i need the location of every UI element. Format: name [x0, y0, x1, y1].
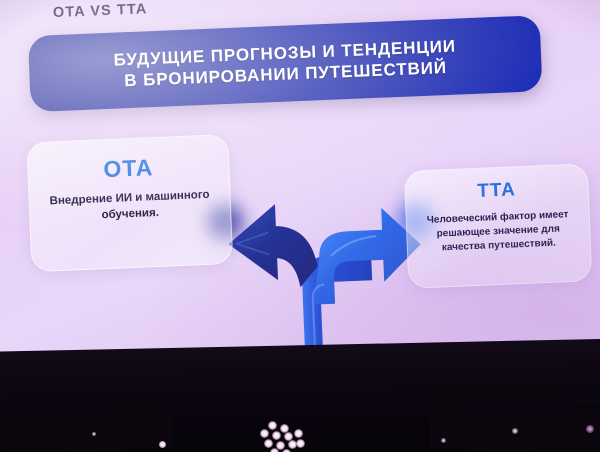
- par-light: [272, 431, 281, 440]
- slide-kicker: OTA VS TTA: [53, 1, 148, 21]
- stage-riser: [0, 400, 173, 452]
- card-ota-title: OTA: [103, 154, 154, 183]
- par-light: [294, 429, 303, 438]
- card-tta-title: TTA: [477, 179, 516, 203]
- stage-photo: OTA VS TTA БУДУЩИЕ ПРОГНОЗЫ И ТЕНДЕНЦИИ …: [0, 0, 600, 452]
- card-tta[interactable]: TTA Человеческий фактор имеет решающее з…: [404, 163, 593, 288]
- par-light: [296, 439, 305, 448]
- slide-content: OTA VS TTA БУДУЩИЕ ПРОГНОЗЫ И ТЕНДЕНЦИИ …: [0, 0, 600, 392]
- par-light-cluster: [246, 421, 310, 451]
- card-ota-body: Внедрение ИИ и машинного обучения.: [29, 187, 230, 227]
- banner-text: БУДУЩИЕ ПРОГНОЗЫ И ТЕНДЕНЦИИ В БРОНИРОВА…: [28, 15, 543, 112]
- projection-screen: OTA VS TTA БУДУЩИЕ ПРОГНОЗЫ И ТЕНДЕНЦИИ …: [0, 0, 600, 392]
- par-light: [270, 448, 279, 452]
- par-light: [264, 439, 273, 448]
- stage-light-small: [512, 428, 518, 434]
- slide-title-banner: БУДУЩИЕ ПРОГНОЗЫ И ТЕНДЕНЦИИ В БРОНИРОВА…: [28, 15, 543, 112]
- stage-light-small: [92, 432, 96, 436]
- card-ota[interactable]: OTA Внедрение ИИ и машинного обучения.: [26, 134, 233, 272]
- card-tta-body: Человеческий фактор имеет решающее значе…: [406, 207, 590, 256]
- stage-light-small: [586, 425, 594, 433]
- par-light: [260, 429, 269, 438]
- par-light: [268, 421, 277, 430]
- stage-light-small: [441, 438, 446, 443]
- stage-light-small: [159, 441, 166, 448]
- stage-riser: [432, 384, 600, 403]
